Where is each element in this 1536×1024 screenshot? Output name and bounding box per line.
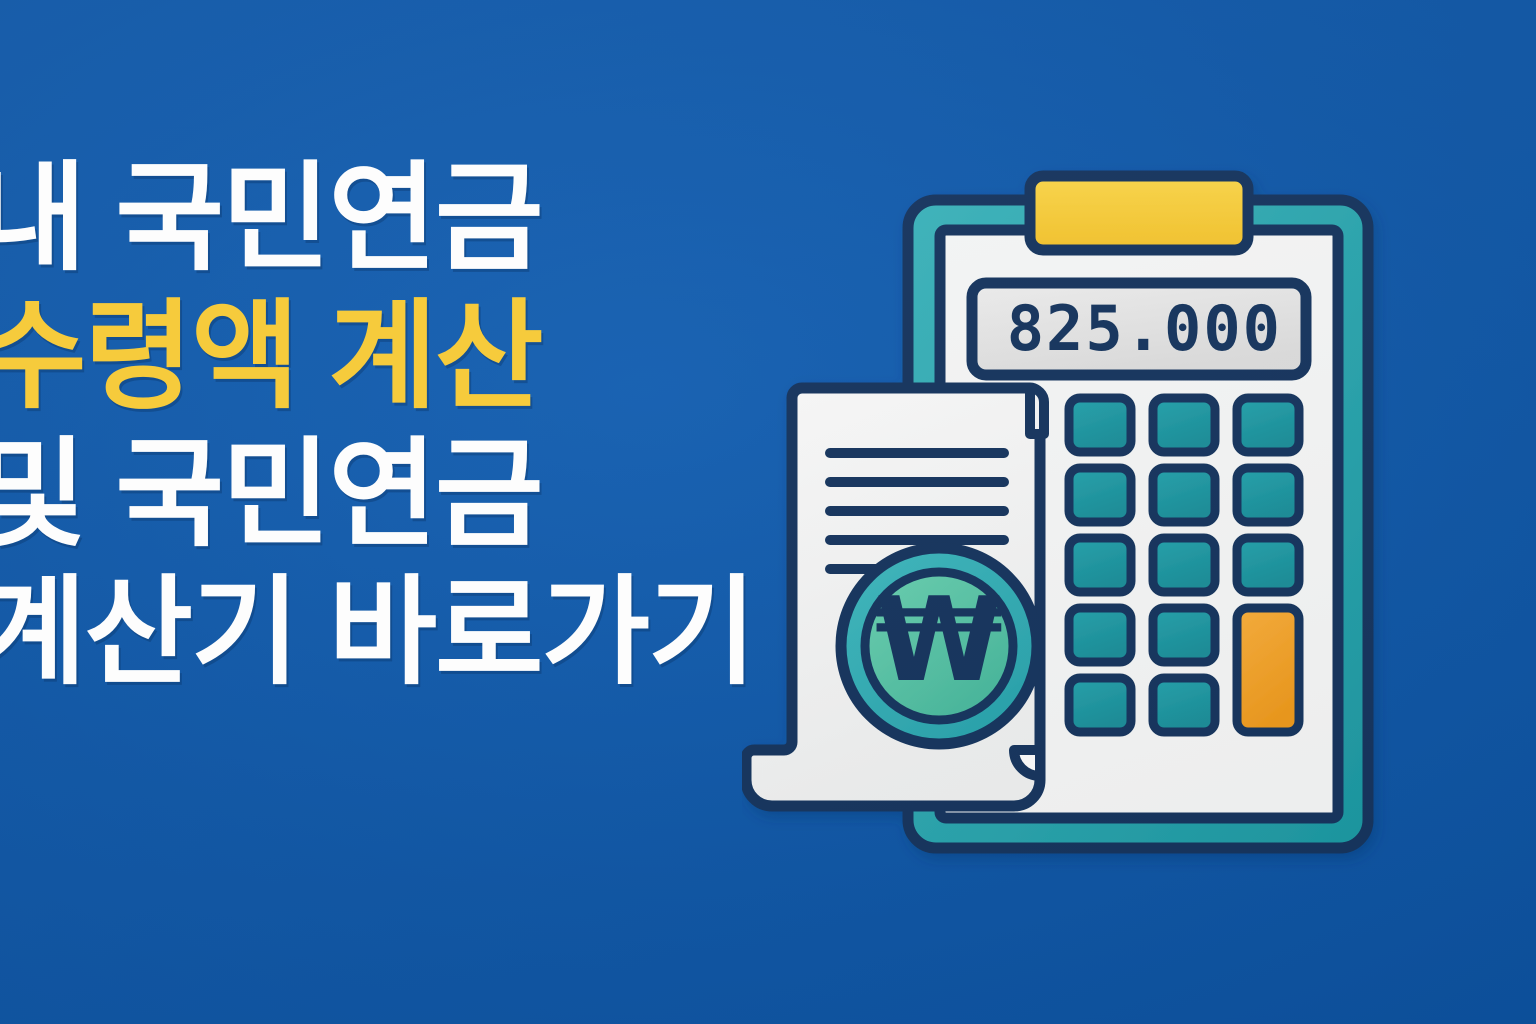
keypad-key[interactable] bbox=[1069, 608, 1131, 662]
display-value: 825.000 bbox=[1007, 292, 1282, 365]
keypad-key[interactable] bbox=[1069, 678, 1131, 732]
won-coin: ₩ bbox=[841, 548, 1037, 744]
keypad-key[interactable] bbox=[1069, 538, 1131, 592]
headline-line-2: 수령액 계산 bbox=[0, 288, 798, 426]
poster-canvas: 내 국민연금 수령액 계산 및 국민연금 계산기 바로가기 bbox=[0, 0, 1536, 1024]
keypad-key[interactable] bbox=[1069, 398, 1131, 452]
keypad-key[interactable] bbox=[1153, 468, 1215, 522]
keypad-key[interactable] bbox=[1237, 538, 1299, 592]
clipboard-clip bbox=[1030, 176, 1248, 250]
keypad-key[interactable] bbox=[1069, 468, 1131, 522]
keypad-key[interactable] bbox=[1237, 398, 1299, 452]
keypad-key-equals[interactable] bbox=[1237, 608, 1299, 732]
keypad-key[interactable] bbox=[1153, 398, 1215, 452]
won-symbol: ₩ bbox=[875, 573, 1003, 708]
headline-line-1: 내 국민연금 bbox=[0, 150, 798, 288]
calculator-display: 825.000 bbox=[972, 283, 1306, 375]
keypad-key[interactable] bbox=[1153, 678, 1215, 732]
headline-line-4: 계산기 바로가기 bbox=[0, 564, 798, 702]
keypad-key[interactable] bbox=[1237, 468, 1299, 522]
keypad-key[interactable] bbox=[1153, 608, 1215, 662]
pension-calculator-illustration: 825.000 bbox=[742, 158, 1406, 906]
headline-line-3: 및 국민연금 bbox=[0, 426, 798, 564]
calculator-keypad bbox=[1069, 398, 1299, 732]
keypad-key[interactable] bbox=[1153, 538, 1215, 592]
headline-block: 내 국민연금 수령액 계산 및 국민연금 계산기 바로가기 bbox=[0, 150, 798, 702]
